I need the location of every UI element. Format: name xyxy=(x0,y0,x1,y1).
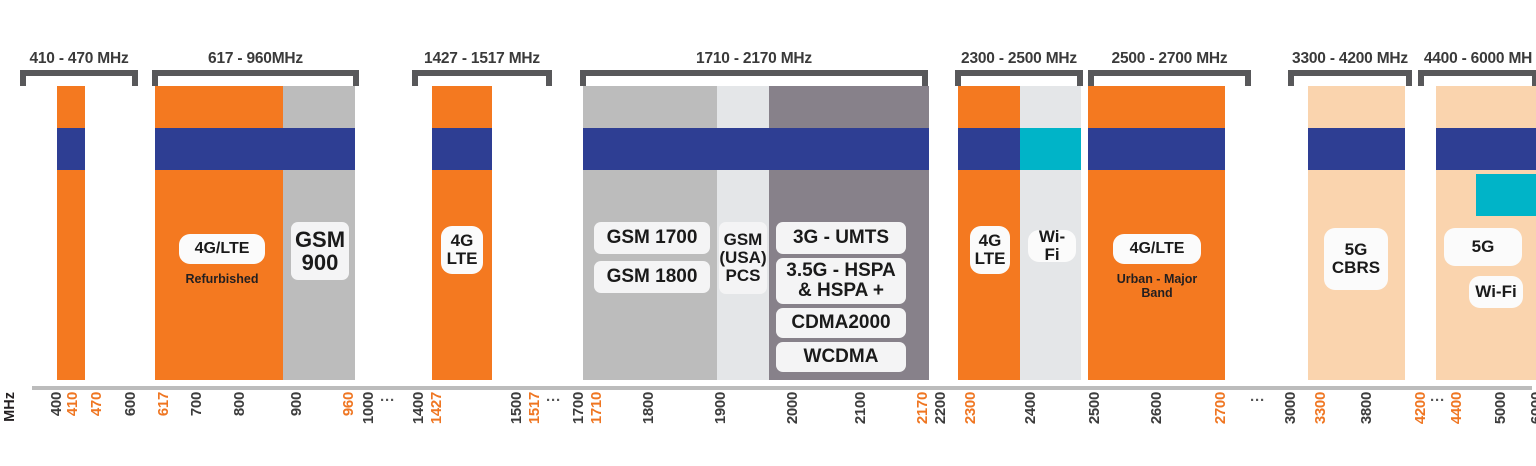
bracket-lft xyxy=(580,70,586,86)
bracket-shape xyxy=(1088,70,1251,86)
range-label: 2300 - 2500 MHz xyxy=(961,50,1077,68)
axis-tick-2300: 2300 xyxy=(962,392,979,424)
range-label: 3300 - 4200 MHz xyxy=(1292,50,1408,68)
bracket-shape xyxy=(412,70,552,86)
axis-tick-600: 600 xyxy=(122,392,139,416)
axis-tick-3000: 3000 xyxy=(1282,392,1299,424)
axis-tick-1700: 1700 xyxy=(570,392,587,424)
range-bracket-r2500: 2500 - 2700 MHz xyxy=(1088,44,1251,86)
technology-chip: CDMA2000 xyxy=(776,308,906,338)
axis-tick-1710: 1710 xyxy=(588,392,605,424)
axis-tick-2170: 2170 xyxy=(914,392,931,424)
range-bracket-r1427: 1427 - 1517 MHz xyxy=(412,44,552,86)
range-bracket-r2300: 2300 - 2500 MHz xyxy=(955,44,1083,86)
band-2300-2500: 4G LTEWi-Fi xyxy=(958,86,1081,380)
axis-tick-1500: 1500 xyxy=(508,392,525,424)
axis-tick-2500: 2500 xyxy=(1086,392,1103,424)
range-bracket-r410: 410 - 470 MHz xyxy=(20,44,138,86)
band-sublabel: Urban - Major Band xyxy=(1108,272,1206,301)
range-bracket-r617: 617 - 960MHz xyxy=(152,44,359,86)
band-4400-6000: 5GWi-Fi xyxy=(1436,86,1536,380)
coverage-bar-blue xyxy=(583,128,929,170)
coverage-bar-blue xyxy=(57,128,85,170)
technology-chip: 4G LTE xyxy=(970,226,1010,274)
bracket-shape xyxy=(20,70,138,86)
bracket-rgt xyxy=(1532,70,1536,86)
bracket-lft xyxy=(1288,70,1294,86)
axis-tick-2100: 2100 xyxy=(852,392,869,424)
coverage-bar-blue xyxy=(1308,128,1405,170)
axis-tick-3300: 3300 xyxy=(1312,392,1329,424)
band-3300-4200: 5G CBRS xyxy=(1308,86,1405,380)
range-bracket-r1710: 1710 - 2170 MHz xyxy=(580,44,928,86)
axis-tick-1517: 1517 xyxy=(526,392,543,424)
bracket-rgt xyxy=(1245,70,1251,86)
technology-chip: 5G CBRS xyxy=(1324,228,1388,290)
bracket-shape xyxy=(152,70,359,86)
technology-chip: 3G - UMTS xyxy=(776,222,906,254)
axis-ellipsis: ··· xyxy=(1430,392,1445,409)
axis-tick-960: 960 xyxy=(340,392,357,416)
range-label: 410 - 470 MHz xyxy=(29,50,128,68)
axis-tick-1000: 1000 xyxy=(360,392,377,424)
axis-tick-3800: 3800 xyxy=(1358,392,1375,424)
axis-tick-2600: 2600 xyxy=(1148,392,1165,424)
axis-tick-2000: 2000 xyxy=(784,392,801,424)
axis-tick-410: 410 xyxy=(64,392,81,416)
coverage-bar-blue xyxy=(1088,128,1225,170)
bracket-top xyxy=(1288,70,1412,76)
coverage-bar-blue xyxy=(155,128,355,170)
bracket-lft xyxy=(152,70,158,86)
axis-tick-700: 700 xyxy=(188,392,205,416)
range-bracket-r4400: 4400 - 6000 MH xyxy=(1418,44,1536,86)
axis-tick-800: 800 xyxy=(231,392,248,416)
axis-tick-470: 470 xyxy=(88,392,105,416)
band-617-960: 4G/LTEGSM 900Refurbished xyxy=(155,86,355,380)
bracket-shape xyxy=(1288,70,1412,86)
technology-chip: GSM 1700 xyxy=(594,222,710,254)
band-410-470 xyxy=(57,86,85,380)
axis-tick-6000: 6000 xyxy=(1528,392,1536,424)
bracket-rgt xyxy=(546,70,552,86)
coverage-bar-blue xyxy=(958,128,1020,170)
bracket-top xyxy=(1088,70,1251,76)
bracket-top xyxy=(412,70,552,76)
technology-chip: 4G/LTE xyxy=(179,234,265,264)
axis-tick-900: 900 xyxy=(288,392,305,416)
bracket-top xyxy=(955,70,1083,76)
axis-tick-2700: 2700 xyxy=(1212,392,1229,424)
axis-unit-label: MHz xyxy=(2,392,18,422)
bracket-shape xyxy=(580,70,928,86)
bracket-lft xyxy=(955,70,961,86)
technology-chip: GSM (USA) PCS xyxy=(719,222,767,294)
range-label: 2500 - 2700 MHz xyxy=(1112,50,1228,68)
technology-chip: 4G LTE xyxy=(441,226,483,274)
axis-tick-2200: 2200 xyxy=(932,392,949,424)
axis-tick-1427: 1427 xyxy=(428,392,445,424)
bracket-shape xyxy=(955,70,1083,86)
axis-tick-4200: 4200 xyxy=(1412,392,1429,424)
technology-chip: Wi-Fi xyxy=(1028,230,1076,262)
range-label: 1427 - 1517 MHz xyxy=(424,50,540,68)
range-bracket-r3300: 3300 - 4200 MHz xyxy=(1288,44,1412,86)
range-label: 617 - 960MHz xyxy=(208,50,303,68)
bracket-rgt xyxy=(132,70,138,86)
axis-tick-1900: 1900 xyxy=(712,392,729,424)
spectrum-chart: 410 - 470 MHz617 - 960MHz1427 - 1517 MHz… xyxy=(0,0,1536,466)
bracket-lft xyxy=(412,70,418,86)
axis-tick-5000: 5000 xyxy=(1492,392,1509,424)
band-2500-2700: 4G/LTEUrban - Major Band xyxy=(1088,86,1225,380)
axis-tick-1800: 1800 xyxy=(640,392,657,424)
technology-chip: Wi-Fi xyxy=(1469,276,1523,308)
bracket-lft xyxy=(20,70,26,86)
axis-tick-2400: 2400 xyxy=(1022,392,1039,424)
technology-chip: WCDMA xyxy=(776,342,906,372)
bracket-rgt xyxy=(922,70,928,86)
bracket-lft xyxy=(1418,70,1424,86)
bracket-top xyxy=(1418,70,1536,76)
bracket-top xyxy=(152,70,359,76)
band-1710-2170: GSM 1700GSM 1800GSM (USA) PCS3G - UMTS3.… xyxy=(583,86,929,380)
bracket-rgt xyxy=(353,70,359,86)
axis-tick-400: 400 xyxy=(48,392,65,416)
coverage-bar-blue xyxy=(432,128,492,170)
technology-chip: GSM 1800 xyxy=(594,261,710,293)
bracket-rgt xyxy=(1077,70,1083,86)
technology-chip: 4G/LTE xyxy=(1113,234,1201,264)
axis-tick-617: 617 xyxy=(155,392,172,416)
band-1427-1517: 4G LTE xyxy=(432,86,492,380)
coverage-bar-cyan xyxy=(1476,174,1536,216)
axis-ellipsis: ··· xyxy=(380,392,395,409)
axis-ellipsis: ··· xyxy=(1250,392,1265,409)
range-label: 4400 - 6000 MH xyxy=(1424,50,1532,68)
technology-chip: 3.5G - HSPA & HSPA + xyxy=(776,258,906,304)
coverage-bar-cyan xyxy=(1020,128,1081,170)
bracket-top xyxy=(20,70,138,76)
bracket-lft xyxy=(1088,70,1094,86)
axis-tick-4400: 4400 xyxy=(1448,392,1465,424)
bracket-rgt xyxy=(1406,70,1412,86)
axis-baseline xyxy=(32,386,1532,390)
range-label: 1710 - 2170 MHz xyxy=(696,50,812,68)
band-sublabel: Refurbished xyxy=(175,272,269,286)
technology-chip: 5G xyxy=(1444,228,1522,266)
bracket-shape xyxy=(1418,70,1536,86)
coverage-bar-blue xyxy=(1436,128,1536,170)
axis-tick-1400: 1400 xyxy=(410,392,427,424)
axis-ellipsis: ··· xyxy=(546,392,561,409)
bracket-top xyxy=(580,70,928,76)
technology-chip: GSM 900 xyxy=(291,222,349,280)
